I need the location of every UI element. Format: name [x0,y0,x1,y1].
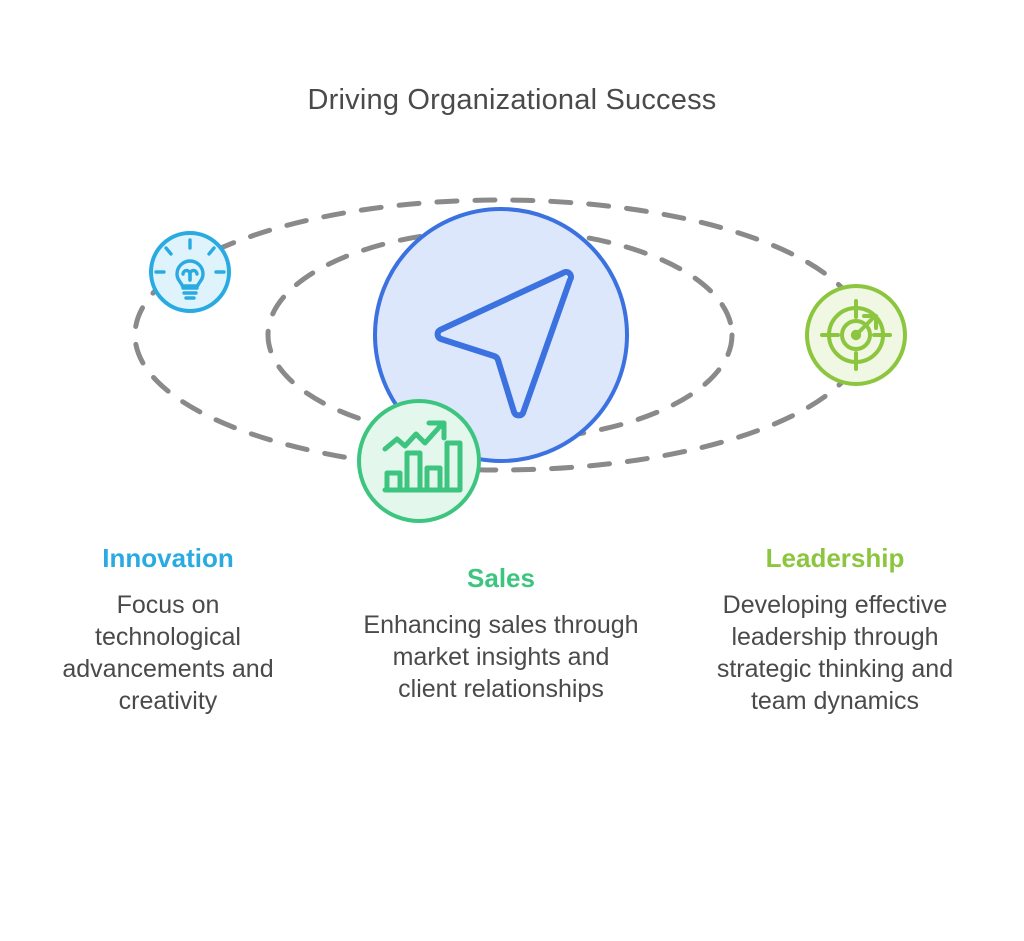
column-heading-leadership: Leadership [694,544,976,573]
column-sales: Sales Enhancing sales through market ins… [360,564,642,705]
category-columns: Innovation Focus on technological advanc… [0,536,1024,916]
column-body-innovation: Focus on technological advancements and … [28,589,308,717]
column-body-leadership: Developing effective leadership through … [694,589,976,717]
page-title: Driving Organizational Success [0,84,1024,117]
column-innovation: Innovation Focus on technological advanc… [28,544,308,717]
column-body-sales: Enhancing sales through market insights … [360,609,642,705]
node-sales[interactable] [359,401,479,521]
infographic-canvas: Driving Organizational Success [0,0,1024,941]
column-heading-sales: Sales [360,564,642,593]
orbit-diagram [0,160,1024,560]
column-leadership: Leadership Developing effective leadersh… [694,544,976,717]
column-heading-innovation: Innovation [28,544,308,573]
node-leadership[interactable] [807,286,905,384]
node-innovation[interactable] [151,233,229,311]
